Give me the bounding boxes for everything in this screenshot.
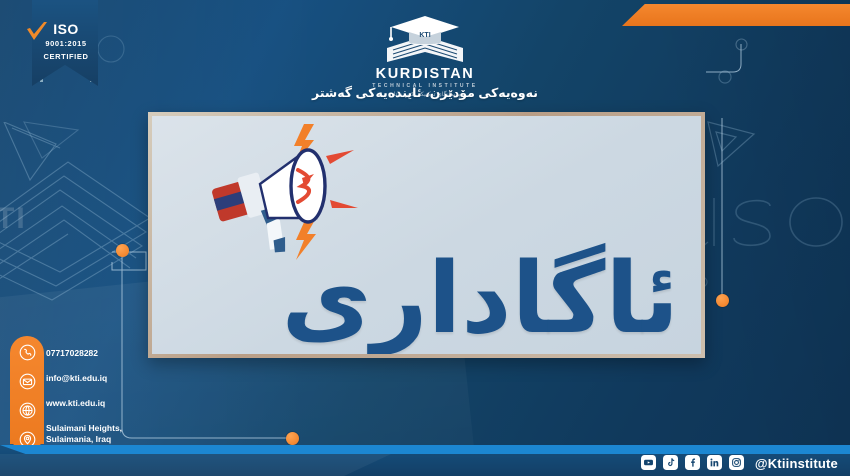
announcement-panel-inner: ئاگاداری <box>152 116 701 354</box>
footer-shape <box>0 454 391 476</box>
footer-accent-stripe <box>0 445 850 454</box>
connector-ring-top <box>735 38 748 51</box>
tiktok-icon[interactable] <box>663 455 678 470</box>
facebook-icon[interactable] <box>685 455 700 470</box>
connector-dot-left-top <box>116 244 129 257</box>
contact-phone[interactable]: 07717028282 <box>46 348 122 373</box>
youtube-icon[interactable] <box>641 455 656 470</box>
contact-email[interactable]: info@kti.edu.iq <box>46 373 122 398</box>
announcement-panel: ئاگاداری <box>148 112 705 358</box>
contact-icon-list <box>10 344 44 448</box>
contact-address: Sulaimani Heights, Sulaimania, Iraq <box>46 423 122 446</box>
social-handle[interactable]: @Ktiinstitute <box>755 456 838 471</box>
announcement-headline: ئاگاداری <box>281 250 679 348</box>
contact-details: 07717028282 info@kti.edu.iq www.kti.edu.… <box>46 348 122 446</box>
email-icon <box>19 373 36 390</box>
iso-status: CERTIFIED <box>30 52 102 62</box>
instagram-icon[interactable] <box>729 455 744 470</box>
poster-canvas: TI ISO 9001:2015 CERTIFIED <box>0 0 850 476</box>
phone-icon <box>19 344 36 361</box>
linkedin-icon[interactable] <box>707 455 722 470</box>
social-icon-list <box>641 455 744 470</box>
connector-dot-right <box>716 294 729 307</box>
check-icon <box>26 22 48 42</box>
connector-dot-bottom <box>286 432 299 445</box>
contact-website[interactable]: www.kti.edu.iq <box>46 398 122 423</box>
globe-icon <box>19 402 36 419</box>
